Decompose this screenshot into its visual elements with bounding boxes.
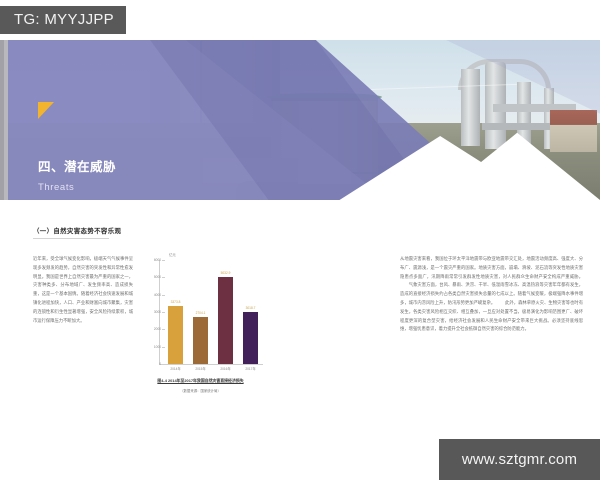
chart-bar-group: 5032.92016年 (218, 260, 233, 364)
chart-caption-note: （数据来源：国家统计局） (133, 388, 268, 393)
chart-x-axis (159, 364, 263, 365)
body-column-right: 从地震灾害来看，我国位于环太平洋地震带与欧亚地震带交汇处，地震活动频度高、强度大… (400, 255, 583, 334)
screenshot-root: 四、潜在威胁 Threats （一）自然灾害态势不容乐观 近年来，受全球气候变化… (0, 0, 600, 480)
chart-bar (193, 317, 208, 364)
chart-bar (218, 277, 233, 364)
banner-title: 四、潜在威胁 (38, 156, 116, 175)
chart-y-tick: 1000 (149, 345, 161, 349)
chart-y-tick: 2000 (149, 327, 161, 331)
chart-bar-group: 3018.72017年 (243, 260, 258, 364)
banner-overlay (8, 40, 600, 200)
chart-bars: 3373.82014年2704.12015年5032.92016年3018.72… (163, 260, 263, 364)
chart-caption: 图4-4 2014年至2017年我国自然灾害直接经济损失 (133, 378, 268, 384)
chart-x-tick-label: 2017年 (245, 366, 255, 371)
chart-ylabel: 亿元 (169, 252, 176, 257)
banner: 四、潜在威胁 Threats (8, 40, 600, 200)
banner-subtitle: Threats (38, 182, 74, 193)
chart-bar-group: 3373.82014年 (168, 260, 183, 364)
bar-chart: 亿元 0100020003000400050006000 3373.82014年… (133, 252, 268, 402)
chart-y-tick: 6000 (149, 258, 161, 262)
telegram-tag-watermark: TG: MYYJJPP (0, 6, 126, 34)
chart-y-tick: 0 (149, 362, 161, 366)
chart-caption-text: 图4-4 2014年至2017年我国自然灾害直接经济损失 (157, 378, 243, 383)
chart-x-tick-label: 2015年 (195, 366, 205, 371)
document-page: （一）自然灾害态势不容乐观 近年来，受全球气候变化影响，极端天气气候事件呈现多发… (0, 200, 600, 480)
page-edge-shadow (0, 40, 4, 200)
chart-bar-value: 2704.1 (196, 311, 206, 315)
chart-x-tick-label: 2016年 (220, 366, 230, 371)
chart-bar (168, 306, 183, 364)
body-column-left: 近年来，受全球气候变化影响，极端天气气候事件呈现多发频发的趋势，自然灾害的突发性… (33, 255, 133, 325)
chart-y-tick: 4000 (149, 293, 161, 297)
chart-y-tick: 5000 (149, 275, 161, 279)
chart-x-tick-label: 2014年 (170, 366, 180, 371)
site-watermark: www.sztgmr.com (439, 439, 600, 480)
section-heading: （一）自然灾害态势不容乐观 (33, 226, 121, 235)
gold-triangle-icon (38, 102, 54, 119)
chart-bar-value: 3373.8 (171, 300, 181, 304)
chart-bar-group: 2704.12015年 (193, 260, 208, 364)
chart-bar (243, 312, 258, 364)
chart-bar-value: 5032.9 (221, 271, 231, 275)
section-underline (33, 238, 109, 239)
chart-y-tick: 3000 (149, 310, 161, 314)
chart-bar-value: 3018.7 (246, 306, 256, 310)
